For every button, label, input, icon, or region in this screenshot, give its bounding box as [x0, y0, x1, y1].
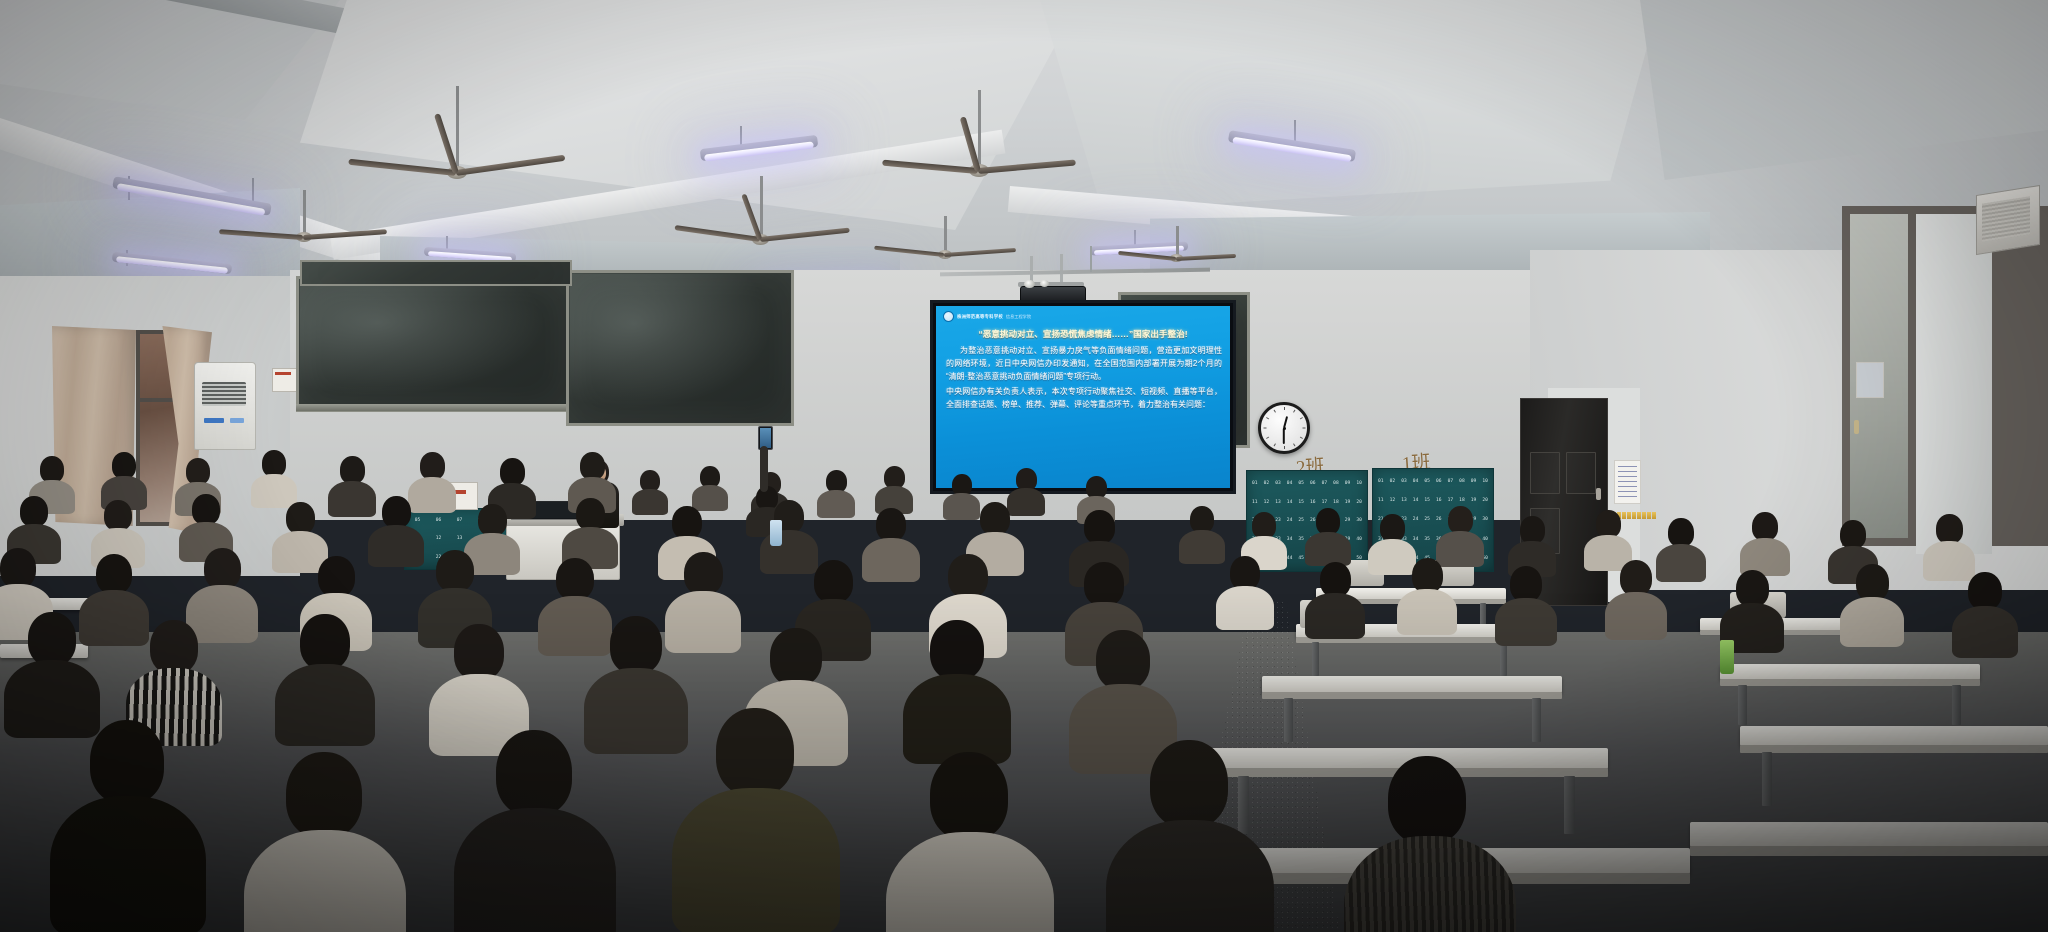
pocket-number: 45 [1298, 556, 1304, 561]
door-panel-upper [1530, 452, 1560, 494]
pocket-number: 06 [1310, 481, 1316, 486]
pocket-number: 16 [1436, 498, 1442, 503]
shoulders [1007, 488, 1045, 516]
pocket-number: 06 [1436, 479, 1442, 484]
shoulders [903, 674, 1011, 764]
projected-slide: 株洲师范高等专科学校 信息工程学院 “恶意挑动对立、宣扬恐慌焦虑情绪……”国家出… [936, 306, 1230, 488]
head [610, 616, 662, 674]
head [1252, 512, 1276, 539]
shoulders [50, 796, 206, 932]
clock-tick [1284, 446, 1285, 449]
blackboard-center-glare [570, 274, 784, 416]
wall-notice-accent [275, 372, 291, 375]
head [286, 752, 362, 838]
head [1084, 510, 1115, 544]
pocket-number: 16 [1310, 500, 1316, 505]
pocket-number: 40 [1482, 537, 1488, 542]
ceiling-fan-6 [1176, 226, 1177, 227]
pocket-number: 24 [1413, 517, 1419, 522]
pocket-number: 14 [1413, 498, 1419, 503]
pocket-number: 15 [1424, 498, 1430, 503]
shoulders [1179, 530, 1225, 564]
head [1840, 520, 1866, 549]
pocket-row: 01 02 03 04 05 06 07 08 09 10 [1249, 481, 1365, 486]
head [204, 548, 241, 589]
shoulders [1368, 539, 1416, 575]
shoulders [328, 481, 376, 517]
classroom-photo: 株洲师范高等专科学校 信息工程学院 “恶意挑动对立、宣扬恐慌焦虑情绪……”国家出… [0, 0, 2048, 932]
head [948, 554, 988, 598]
head [192, 494, 220, 525]
poster-line [1618, 496, 1637, 497]
pocket-number: 09 [1471, 479, 1477, 484]
pocket-number: 04 [1287, 481, 1293, 486]
shoulders [1495, 598, 1557, 646]
clock-tick [1303, 428, 1306, 429]
pocket-number: 30 [1356, 518, 1362, 523]
head [814, 560, 853, 603]
pocket-number: 07 [1322, 481, 1328, 486]
shoulders [1605, 592, 1667, 640]
shoulders [1923, 541, 1975, 581]
pocket-number: 15 [1298, 500, 1304, 505]
poster-line [1618, 486, 1637, 487]
head [672, 506, 702, 539]
head [1320, 562, 1351, 597]
clock-tick [1264, 428, 1267, 429]
shoulders [665, 591, 741, 653]
shoulders [1305, 593, 1365, 639]
shoulders [632, 489, 668, 515]
shoulders [943, 493, 980, 520]
head [96, 554, 132, 594]
door-handle[interactable] [1596, 488, 1601, 500]
shoulders [1840, 597, 1904, 647]
pocket-number: 13 [1401, 498, 1407, 503]
ceiling-fan-4 [978, 90, 979, 91]
wall-sticker [1642, 512, 1646, 519]
head [454, 624, 504, 680]
pocket-number: 30 [1482, 517, 1488, 522]
head [930, 752, 1008, 840]
pocket-number: 29 [1345, 518, 1351, 523]
head [580, 452, 605, 480]
pocket-number: 02 [1390, 479, 1396, 484]
water-bottle [1720, 640, 1734, 674]
clock-tick [1266, 417, 1269, 419]
head [716, 708, 794, 796]
pocket-number: 10 [1356, 481, 1362, 486]
ceiling-coffer-3 [1040, 0, 1660, 210]
head [1084, 562, 1124, 606]
shoulders [538, 596, 612, 656]
head [1190, 506, 1214, 533]
shoulders [862, 538, 920, 582]
shoulders [672, 788, 840, 932]
head [556, 558, 594, 600]
shoulders [408, 477, 456, 513]
head [1388, 756, 1466, 844]
right-window-handle[interactable] [1854, 420, 1859, 434]
head [1510, 566, 1542, 602]
clock-minute-hand [1283, 428, 1285, 444]
head [1752, 512, 1778, 541]
head [1968, 572, 2002, 610]
air-conditioner-badge [204, 418, 224, 423]
shoulders [186, 585, 258, 643]
pocket-number: 05 [1298, 481, 1304, 486]
pocket-number: 19 [1471, 498, 1477, 503]
clock-tick [1284, 407, 1285, 410]
arm-holding-phone [760, 446, 768, 492]
pocket-number: 13 [1275, 500, 1281, 505]
ceiling-fan-1 [456, 86, 457, 87]
pocket-row: 01 02 03 04 05 06 07 08 09 10 [1375, 479, 1491, 484]
head [382, 496, 411, 528]
blackboard-upper-strip [300, 260, 572, 286]
slide-logo-department: 信息工程学院 [1006, 314, 1031, 320]
blackboard-left-glare [300, 280, 560, 402]
pocket-number: 34 [1287, 537, 1293, 542]
head [576, 498, 605, 530]
shoulders [1305, 532, 1351, 566]
pocket-number: 18 [1459, 498, 1465, 503]
wall-sticker [1622, 512, 1626, 519]
ceiling-fan-5 [944, 216, 945, 217]
pocket-number: 12 [1264, 500, 1270, 505]
shoulders [79, 590, 149, 646]
clock-tick [1266, 437, 1269, 439]
water-bottle [770, 520, 782, 546]
shoulders [454, 808, 616, 932]
pocket-number: 04 [1413, 479, 1419, 484]
pocket-number: 07 [457, 518, 463, 523]
shoulders [251, 474, 297, 508]
clock-center-pin [1283, 427, 1286, 430]
slide-paragraph-2: 中央网信办有关负责人表示，本次专项行动聚焦社交、短视频、直播等平台，全面排查话题… [946, 385, 1222, 411]
pocket-number: 08 [1333, 481, 1339, 486]
wall-sticker [1647, 512, 1651, 519]
pocket-number: 34 [1413, 537, 1419, 542]
shoulders [1952, 606, 2018, 658]
head [420, 452, 445, 480]
pocket-number: 23 [1275, 518, 1281, 523]
pocket-number: 01 [1378, 479, 1384, 484]
pocket-number: 17 [1322, 500, 1328, 505]
head [300, 614, 350, 670]
pocket-number: 07 [1448, 479, 1454, 484]
speaker-grill [1982, 196, 2030, 242]
head [1412, 558, 1443, 593]
shoulders [368, 525, 424, 567]
wall-sticker [1627, 512, 1631, 519]
ceiling-conduit [1090, 246, 1092, 272]
slide-logo-row: 株洲师范高等专科学校 信息工程学院 [943, 311, 1031, 322]
shoulders [760, 530, 818, 574]
pocket-number: 09 [1345, 481, 1351, 486]
pocket-number: 11 [1252, 500, 1258, 505]
ceiling-fan-2 [303, 190, 304, 191]
pocket-number: 11 [1378, 498, 1384, 503]
head [318, 556, 355, 597]
clock-tick [1293, 443, 1295, 446]
phone-screen [760, 428, 771, 448]
door-panel-upper-2 [1566, 452, 1596, 494]
head [436, 550, 474, 592]
shoulders [1397, 589, 1457, 635]
pocket-number: 12 [436, 536, 442, 541]
shoulders [692, 485, 728, 511]
clock-tick [1274, 410, 1276, 413]
poster-line [1618, 471, 1637, 472]
ceiling-fan-3 [760, 176, 761, 177]
shoulders [584, 668, 688, 754]
head [770, 628, 822, 686]
clock-tick [1300, 417, 1303, 419]
head [0, 548, 36, 588]
pocket-number: 08 [1459, 479, 1465, 484]
pocket-number: 25 [1424, 517, 1430, 522]
head [1620, 560, 1652, 596]
pocket-number: 26 [1310, 518, 1316, 523]
clock-tick [1293, 410, 1295, 413]
wall-sticker [1637, 512, 1641, 519]
clock-tick [1300, 437, 1303, 439]
head [286, 502, 315, 534]
wall-sticker [1652, 512, 1656, 519]
head [1856, 564, 1889, 601]
head [1520, 516, 1545, 544]
air-conditioner [194, 362, 256, 450]
shoulders [1656, 544, 1706, 582]
head [186, 458, 210, 485]
head [1668, 518, 1694, 547]
projection-screen-frame: 株洲师范高等专科学校 信息工程学院 “恶意挑动对立、宣扬恐慌焦虑情绪……”国家出… [930, 300, 1236, 494]
pocket-number: 05 [415, 518, 421, 523]
head [20, 496, 48, 527]
right-wall-poster [1856, 362, 1884, 398]
pocket-number: 40 [1356, 537, 1362, 542]
head [1316, 508, 1340, 535]
pocket-number: 02 [1264, 481, 1270, 486]
shoulders [817, 490, 855, 518]
slide-logo-institution: 株洲师范高等专科学校 [957, 314, 1003, 320]
head [1096, 630, 1150, 690]
head [1736, 570, 1769, 607]
pocket-number: 26 [1436, 517, 1442, 522]
wall-clock [1258, 402, 1310, 454]
head [478, 504, 507, 536]
pocket-number: 12 [1390, 498, 1396, 503]
shoulders [1106, 820, 1274, 932]
head [684, 552, 723, 595]
head [1936, 514, 1963, 544]
head [980, 502, 1010, 535]
air-conditioner-grill [202, 382, 246, 406]
head [28, 612, 76, 666]
head [150, 620, 198, 674]
poster-line [1618, 466, 1637, 467]
head [90, 720, 164, 804]
clock-tick [1274, 443, 1276, 446]
head [104, 500, 132, 531]
pocket-row: 11 12 13 14 15 16 17 18 19 20 [1375, 498, 1491, 503]
class-schedule-poster [1614, 460, 1641, 504]
head [1448, 506, 1473, 534]
pocket-number: 06 [436, 518, 442, 523]
head [262, 450, 286, 477]
shoulders [275, 664, 375, 746]
head [1230, 556, 1260, 590]
projector-lens [1024, 280, 1035, 288]
head [876, 508, 906, 541]
pocket-number: 20 [1482, 498, 1488, 503]
shoulders [4, 660, 100, 738]
pocket-number: 44 [1287, 556, 1293, 561]
pocket-number: 01 [1252, 481, 1258, 486]
university-logo-icon [943, 311, 954, 322]
shoulders [1216, 586, 1274, 630]
pocket-number: 20 [1356, 500, 1362, 505]
pocket-row: 11 12 13 14 15 16 17 18 19 20 [1249, 500, 1365, 505]
pocket-number: 14 [1287, 500, 1293, 505]
air-conditioner-badge-2 [230, 418, 244, 423]
pocket-number: 35 [1424, 537, 1430, 542]
head [40, 456, 64, 483]
head [112, 452, 136, 479]
pocket-number: 05 [1424, 479, 1430, 484]
pocket-number: 25 [1298, 518, 1304, 523]
head [1150, 740, 1228, 828]
slide-body: 为整治恶意挑动对立、宣扬暴力戾气等负面情绪问题，营造更加文明理性的网络环境，近日… [946, 344, 1222, 412]
slide-title: “恶意挑动对立、宣扬恐慌焦虑情绪……”国家出手整治! [936, 328, 1230, 340]
pocket-number: 18 [1333, 500, 1339, 505]
pocket-number: 24 [1287, 518, 1293, 523]
chalk-tray [296, 404, 566, 411]
pocket-number: 10 [1482, 479, 1488, 484]
head [930, 620, 984, 680]
projector-lens-2 [1040, 280, 1049, 287]
pocket-number: 17 [1448, 498, 1454, 503]
right-window-mullion [1908, 206, 1916, 546]
pocket-number: 03 [1275, 481, 1281, 486]
slide-paragraph-1: 为整治恶意挑动对立、宣扬暴力戾气等负面情绪问题，营造更加文明理性的网络环境，近日… [946, 344, 1222, 384]
pocket-number: 35 [1298, 537, 1304, 542]
poster-line [1618, 491, 1637, 492]
right-wall-pillar [1916, 214, 1992, 554]
poster-line [1618, 481, 1637, 482]
head [340, 456, 365, 484]
wall-sticker [1632, 512, 1636, 519]
pocket-number: 13 [457, 536, 463, 541]
poster-line [1618, 476, 1637, 477]
head [1596, 510, 1621, 538]
shoulders [1436, 531, 1484, 567]
pocket-number: 03 [1401, 479, 1407, 484]
head [500, 458, 525, 486]
head [1380, 514, 1405, 542]
pocket-number: 19 [1345, 500, 1351, 505]
head [496, 730, 572, 816]
